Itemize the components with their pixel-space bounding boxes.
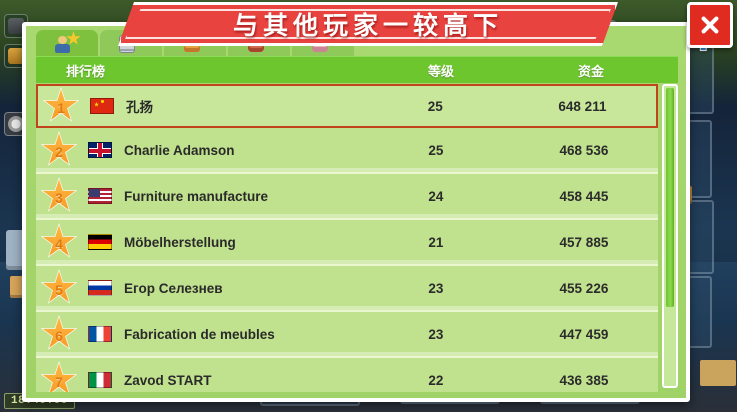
rank-star-icon: 6 (40, 315, 78, 353)
player-name: Möbelherstellung (124, 235, 236, 250)
money-cell: 447 459 (510, 327, 658, 342)
leaderboard-panel: 排行榜 等级 资金 1孔扬25648 2112Charlie Adamson25… (22, 22, 690, 402)
page-title: 与其他玩家一较高下 (118, 2, 618, 46)
player-name: Fabrication de meubles (124, 327, 275, 342)
scrollbar-thumb[interactable] (666, 88, 674, 307)
level-cell: 22 (362, 373, 510, 388)
country-flag-icon (88, 372, 112, 388)
level-cell: 23 (362, 327, 510, 342)
table-row[interactable]: 4Möbelherstellung21457 885 (36, 220, 658, 266)
money-cell: 468 536 (510, 143, 658, 158)
tab-players[interactable] (36, 30, 98, 56)
player-name: Zavod START (124, 373, 212, 388)
title-ribbon: 与其他玩家一较高下 (118, 2, 618, 46)
money-cell: 458 445 (510, 189, 658, 204)
country-flag-icon (88, 234, 112, 250)
country-flag-icon (90, 98, 114, 114)
table-row[interactable]: 3Furniture manufacture24458 445 (36, 174, 658, 220)
close-icon (699, 14, 721, 36)
player-star-icon (52, 32, 82, 54)
country-flag-icon (88, 326, 112, 342)
level-cell: 23 (362, 281, 510, 296)
country-flag-icon (88, 280, 112, 296)
rank-star-icon: 3 (40, 177, 78, 215)
rank-number: 6 (40, 315, 78, 353)
close-button[interactable] (687, 2, 733, 48)
money-cell: 455 226 (510, 281, 658, 296)
column-header-row: 排行榜 等级 资金 (36, 56, 678, 83)
column-header-money: 资金 (516, 61, 666, 80)
rank-cell: 7Zavod START (36, 361, 362, 392)
table-row[interactable]: 6Fabrication de meubles23447 459 (36, 312, 658, 358)
rank-number: 5 (40, 269, 78, 307)
rank-number: 1 (42, 87, 80, 125)
level-cell: 24 (362, 189, 510, 204)
country-flag-icon (88, 188, 112, 204)
country-flag-icon (88, 142, 112, 158)
rank-star-icon: 2 (40, 131, 78, 169)
scrollbar-track[interactable] (662, 84, 678, 388)
money-cell: 436 385 (510, 373, 658, 388)
rank-number: 4 (40, 223, 78, 261)
scene-woodpile (700, 360, 736, 386)
rank-star-icon: 1 (42, 87, 80, 125)
rank-star-icon: 7 (40, 361, 78, 392)
rank-star-icon: 4 (40, 223, 78, 261)
money-cell: 648 211 (509, 99, 656, 114)
rank-number: 2 (40, 131, 78, 169)
rank-number: 7 (40, 361, 78, 392)
column-header-level: 等级 (366, 61, 516, 80)
player-name: Furniture manufacture (124, 189, 268, 204)
table-row[interactable]: 2Charlie Adamson25468 536 (36, 128, 658, 174)
player-name: 孔扬 (126, 96, 153, 116)
table-row[interactable]: 1孔扬25648 211 (36, 84, 658, 128)
rank-cell: 5Егор Селезнев (36, 269, 362, 307)
level-cell: 25 (362, 99, 509, 114)
rank-cell: 3Furniture manufacture (36, 177, 362, 215)
column-header-rank: 排行榜 (36, 61, 366, 80)
level-cell: 25 (362, 143, 510, 158)
table-row[interactable]: 5Егор Селезнев23455 226 (36, 266, 658, 312)
rank-number: 3 (40, 177, 78, 215)
table-row[interactable]: 7Zavod START22436 385 (36, 358, 658, 392)
leaderboard-rows: 1孔扬25648 2112Charlie Adamson25468 5363Fu… (36, 84, 658, 392)
level-cell: 21 (362, 235, 510, 250)
rank-cell: 6Fabrication de meubles (36, 315, 362, 353)
rank-cell: 1孔扬 (38, 87, 362, 125)
player-name: Charlie Adamson (124, 143, 235, 158)
rank-cell: 4Möbelherstellung (36, 223, 362, 261)
rank-cell: 2Charlie Adamson (36, 131, 362, 169)
player-name: Егор Селезнев (124, 281, 223, 296)
rank-star-icon: 5 (40, 269, 78, 307)
money-cell: 457 885 (510, 235, 658, 250)
